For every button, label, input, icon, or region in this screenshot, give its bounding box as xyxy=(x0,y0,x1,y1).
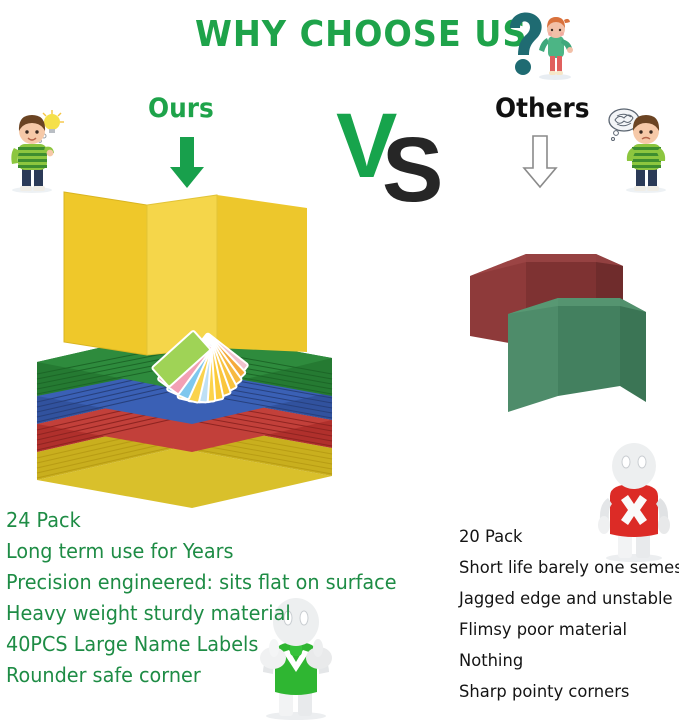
list-item: 24 Pack xyxy=(6,505,390,536)
vs-letter-s: S xyxy=(382,124,443,216)
thinking-girl-icon xyxy=(539,17,573,80)
vs-badge: V S xyxy=(336,100,456,210)
down-arrow-outline-icon xyxy=(520,134,560,190)
others-feature-list: 20 Pack Short life barely one semester J… xyxy=(459,522,679,708)
list-item: Heavy weight sturdy material xyxy=(6,598,390,629)
list-item: Jagged edge and unstable xyxy=(459,584,670,615)
green-shield xyxy=(508,298,646,412)
list-item: Short life barely one semester xyxy=(459,553,670,584)
yellow-shield xyxy=(64,192,307,355)
confused-boy-icon xyxy=(604,98,676,194)
dull-privacy-shields xyxy=(448,236,668,446)
list-item: Long term use for Years xyxy=(6,536,390,567)
list-item: Rounder safe corner xyxy=(6,660,390,691)
others-heading: Others xyxy=(495,93,590,124)
list-item: Precision engineered: sits flat on surfa… xyxy=(6,567,390,598)
list-item: 20 Pack xyxy=(459,522,670,553)
comparison-infographic: WHY CHOOSE US xyxy=(0,0,679,721)
list-item: 40PCS Large Name Labels xyxy=(6,629,390,660)
list-item: Flimsy poor material xyxy=(459,615,670,646)
page-title: WHY CHOOSE US xyxy=(195,14,527,55)
ours-feature-list: 24 Pack Long term use for Years Precisio… xyxy=(6,505,406,691)
ours-heading: Ours xyxy=(148,93,214,124)
list-item: Sharp pointy corners xyxy=(459,677,670,708)
list-item: Nothing xyxy=(459,646,670,677)
question-mark-icon xyxy=(500,8,584,80)
yellow-privacy-shield-stack xyxy=(2,180,352,510)
page-title-row: WHY CHOOSE US xyxy=(0,6,679,76)
